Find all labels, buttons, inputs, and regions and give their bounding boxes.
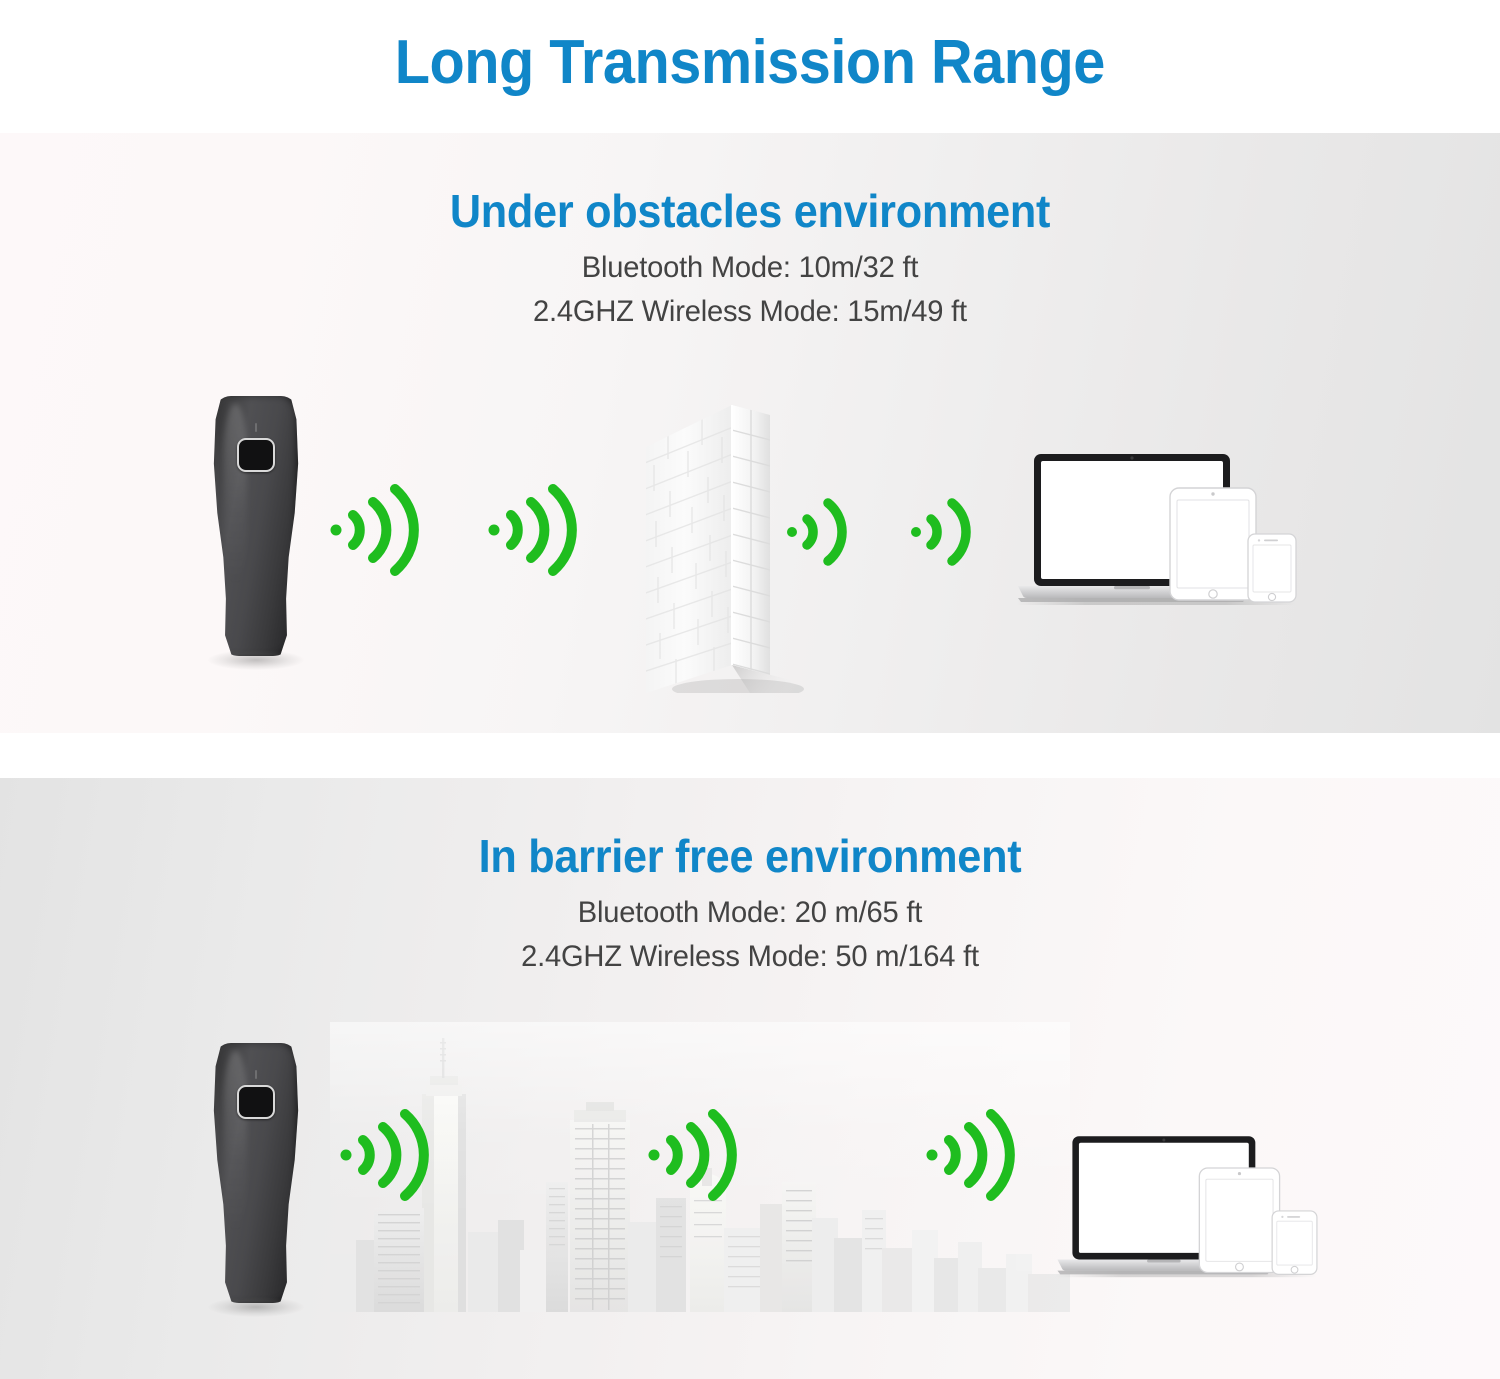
spec-bluetooth-mode: Bluetooth Mode: 10m/32 ft bbox=[23, 251, 1478, 285]
panel-separator bbox=[0, 733, 1500, 778]
barcode-scanner-device bbox=[213, 396, 299, 656]
section-barrier-free: In barrier free environment Bluetooth Mo… bbox=[0, 778, 1500, 1379]
signal-wave-icon bbox=[922, 1107, 1022, 1203]
scanner-trigger-button[interactable] bbox=[237, 438, 275, 472]
section-text-block-barrier-free: In barrier free environment Bluetooth Mo… bbox=[0, 832, 1500, 974]
brick-wall-obstacle bbox=[610, 393, 810, 693]
title-band: Long Transmission Range bbox=[0, 0, 1500, 133]
phone bbox=[1248, 534, 1296, 602]
tablet bbox=[1170, 488, 1256, 600]
scanner-body bbox=[213, 1043, 299, 1303]
signal-wave-icon bbox=[644, 1107, 744, 1203]
signal-wave-icon bbox=[908, 495, 980, 569]
scanner-gloss bbox=[224, 404, 246, 586]
phone bbox=[1272, 1211, 1317, 1274]
signal-wave-icon bbox=[336, 1107, 436, 1203]
scanner-led-indicator bbox=[255, 423, 257, 432]
scanner-trigger-button[interactable] bbox=[237, 1085, 275, 1119]
page-title: Long Transmission Range bbox=[395, 32, 1105, 94]
scanner-body bbox=[213, 396, 299, 656]
tablet bbox=[1199, 1168, 1279, 1273]
signal-wave-icon bbox=[784, 495, 856, 569]
scanner-gloss bbox=[224, 1051, 246, 1233]
scanner-drop-shadow bbox=[208, 650, 304, 670]
scanner-drop-shadow bbox=[208, 1297, 304, 1317]
spec-bluetooth-mode: Bluetooth Mode: 20 m/65 ft bbox=[23, 896, 1478, 930]
section-under-obstacles: Under obstacles environment Bluetooth Mo… bbox=[0, 133, 1500, 733]
receiver-devices-cluster bbox=[1050, 1129, 1330, 1291]
receiver-devices-cluster bbox=[1010, 448, 1310, 618]
spec-wireless-mode: 2.4GHZ Wireless Mode: 15m/49 ft bbox=[23, 295, 1478, 329]
section-text-block-obstacles: Under obstacles environment Bluetooth Mo… bbox=[0, 187, 1500, 329]
spec-wireless-mode: 2.4GHZ Wireless Mode: 50 m/164 ft bbox=[23, 940, 1478, 974]
section-heading: Under obstacles environment bbox=[45, 187, 1455, 235]
scanner-led-indicator bbox=[255, 1070, 257, 1079]
section-heading: In barrier free environment bbox=[45, 832, 1455, 880]
barcode-scanner-device bbox=[213, 1043, 299, 1303]
signal-wave-icon bbox=[484, 482, 584, 578]
signal-wave-icon bbox=[326, 482, 426, 578]
